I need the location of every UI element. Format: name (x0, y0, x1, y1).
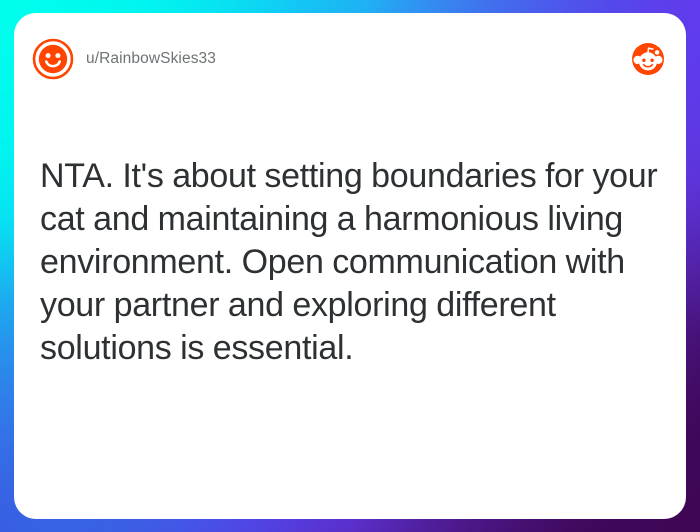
comment-text: NTA. It's about setting boundaries for y… (40, 155, 660, 370)
gradient-background: u/RainbowSkies33 NTA. It's about setting… (0, 0, 700, 532)
card-body: NTA. It's about setting boundaries for y… (40, 155, 660, 370)
reddit-comment-card: u/RainbowSkies33 NTA. It's about setting… (14, 13, 686, 519)
reddit-snoo-logo-icon[interactable] (632, 43, 664, 75)
smiley-face-avatar-icon (32, 38, 74, 80)
username-label: u/RainbowSkies33 (86, 50, 216, 68)
card-header: u/RainbowSkies33 (14, 13, 686, 105)
